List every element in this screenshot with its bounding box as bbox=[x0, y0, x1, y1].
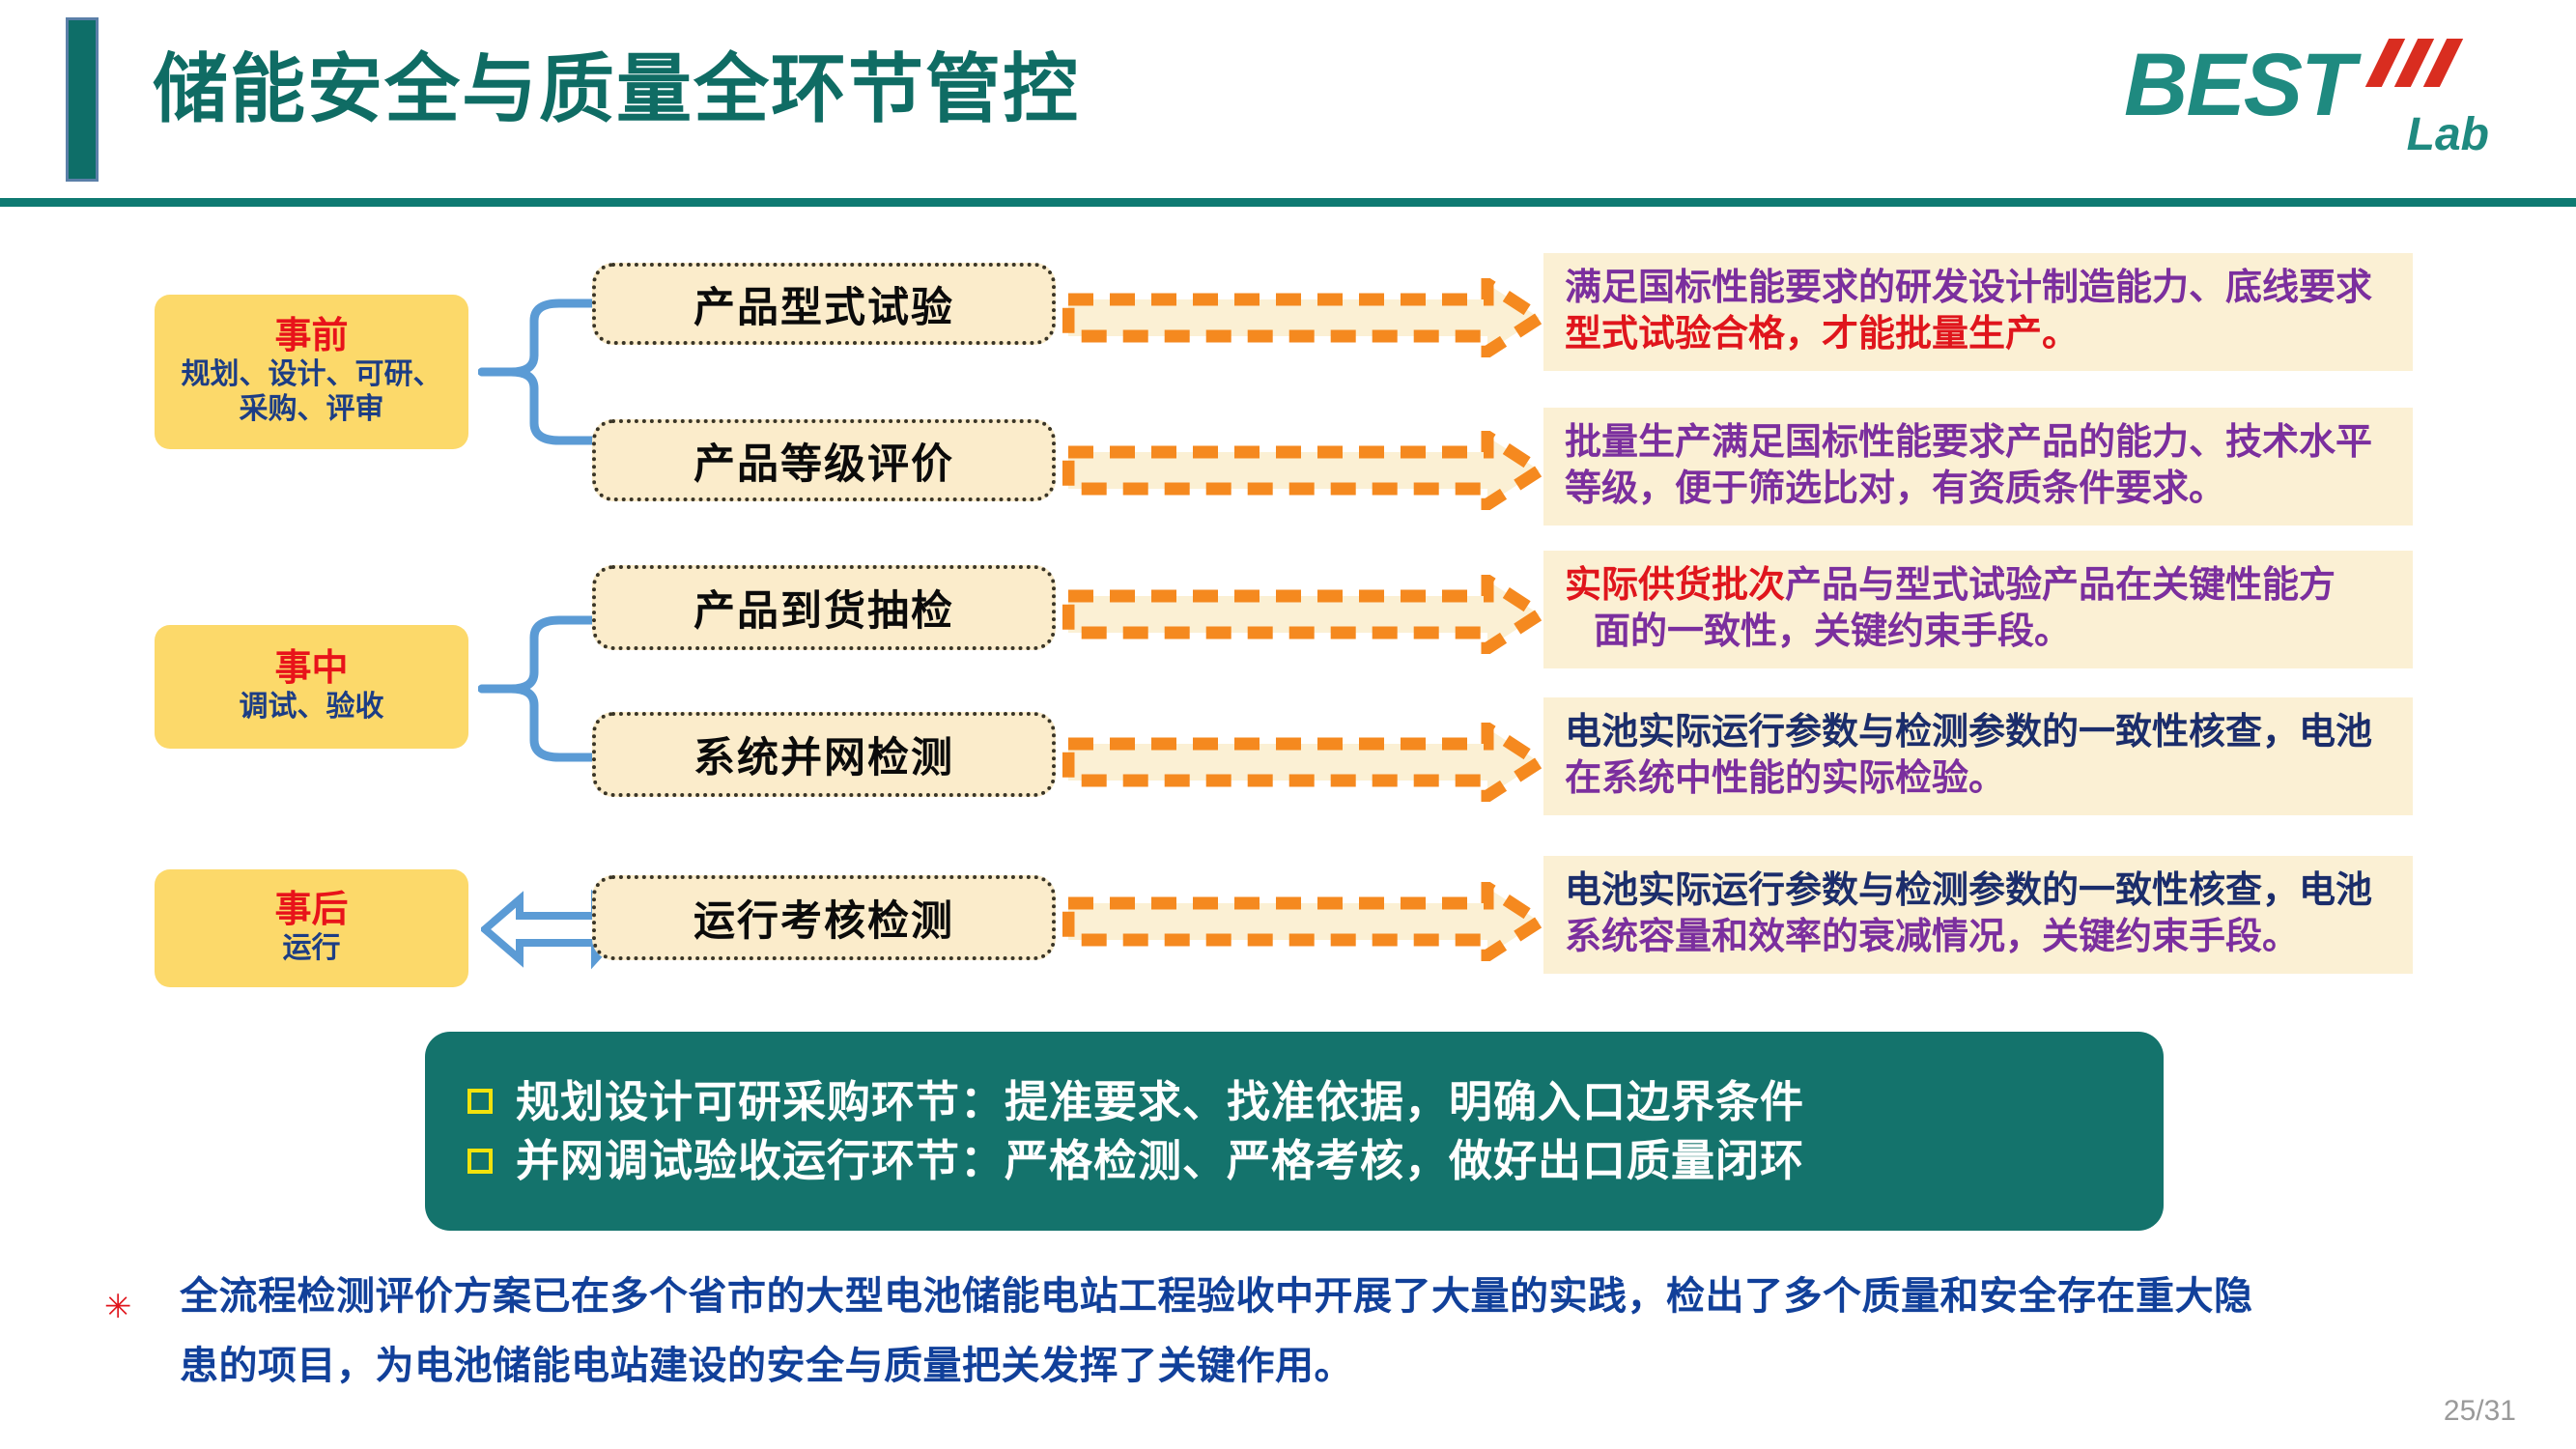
logo-sub-wordmark: Lab bbox=[2407, 112, 2489, 158]
phase-box-before[interactable]: 事前 规划、设计、可研、 采购、评审 bbox=[155, 295, 468, 449]
process-box-label: 系统并网检测 bbox=[694, 724, 954, 784]
description-line: 在系统中性能的实际检验。 bbox=[1565, 756, 2397, 803]
description-box-1: 满足国标性能要求的研发设计制造能力、底线要求 型式试验合格，才能批量生产。 bbox=[1543, 253, 2413, 371]
square-bullet-icon bbox=[467, 1149, 493, 1174]
description-line: 满足国标性能要求的研发设计制造能力、底线要求 bbox=[1565, 266, 2397, 312]
description-box-5: 电池实际运行参数与检测参数的一致性核查，电池 系统容量和效率的衰减情况，关键约束… bbox=[1543, 856, 2413, 974]
summary-text: 并网调试验收运行环节：严格检测、严格考核，做好出口质量闭环 bbox=[516, 1137, 1804, 1185]
summary-row: 规划设计可研采购环节：提准要求、找准依据，明确入口边界条件 bbox=[467, 1078, 2125, 1126]
brace-connector-during bbox=[478, 607, 604, 771]
logo-wordmark: BEST bbox=[2124, 41, 2353, 129]
process-box-3[interactable]: 产品到货抽检 bbox=[592, 565, 1056, 650]
description-box-3: 实际供货批次产品与型式试验产品在关键性能方 面的一致性，关键约束手段。 bbox=[1543, 551, 2413, 668]
asterisk-bullet-icon: ✳ bbox=[104, 1291, 132, 1323]
phase-main-label: 事前 bbox=[274, 316, 348, 357]
phase-sub-label-2: 采购、评审 bbox=[240, 392, 384, 428]
process-box-4[interactable]: 系统并网检测 bbox=[592, 712, 1056, 797]
footer-line-1: 全流程检测评价方案已在多个省市的大型电池储能电站工程验收中开展了大量的实践，检出… bbox=[180, 1277, 2253, 1316]
process-box-5[interactable]: 运行考核检测 bbox=[592, 875, 1056, 960]
description-line: 型式试验合格，才能批量生产。 bbox=[1565, 312, 2397, 358]
phase-box-during[interactable]: 事中 调试、验收 bbox=[155, 625, 468, 749]
description-emphasis: 实际供货批次 bbox=[1565, 565, 1785, 606]
process-box-label: 产品等级评价 bbox=[694, 431, 954, 491]
square-bullet-icon bbox=[467, 1089, 493, 1114]
phase-sub-label: 调试、验收 bbox=[240, 690, 384, 725]
description-box-2: 批量生产满足国标性能要求产品的能力、技术水平 等级，便于筛选比对，有资质条件要求… bbox=[1543, 408, 2413, 526]
description-line: 面的一致性，关键约束手段。 bbox=[1565, 610, 2397, 656]
page-title: 储能安全与质量全环节管控 bbox=[153, 29, 1080, 137]
phase-sub-label: 规划、设计、可研、 bbox=[182, 357, 442, 393]
phase-box-after[interactable]: 事后 运行 bbox=[155, 869, 468, 987]
description-line: 系统容量和效率的衰减情况，关键约束手段。 bbox=[1565, 915, 2397, 961]
header-divider bbox=[0, 198, 2576, 207]
phase-sub-label: 运行 bbox=[283, 931, 341, 967]
description-line: 实际供货批次产品与型式试验产品在关键性能方 bbox=[1565, 563, 2397, 610]
slide-canvas: 储能安全与质量全环节管控 BEST Lab 事前 规划、设计、可研、 采购、评审… bbox=[0, 0, 2576, 1449]
process-box-label: 产品到货抽检 bbox=[694, 578, 954, 638]
brace-connector-before bbox=[478, 290, 604, 454]
dashed-arrow-icon-2 bbox=[1062, 431, 1545, 510]
summary-text: 规划设计可研采购环节：提准要求、找准依据，明确入口边界条件 bbox=[516, 1078, 1804, 1126]
summary-row: 并网调试验收运行环节：严格检测、严格考核，做好出口质量闭环 bbox=[467, 1137, 2125, 1185]
dashed-arrow-icon-1 bbox=[1062, 278, 1545, 357]
title-accent-bar bbox=[66, 17, 99, 182]
description-line: 电池实际运行参数与检测参数的一致性核查，电池 bbox=[1565, 868, 2397, 915]
page-number: 25/31 bbox=[2444, 1395, 2516, 1428]
process-box-label: 运行考核检测 bbox=[694, 888, 954, 948]
dashed-arrow-icon-3 bbox=[1062, 575, 1545, 654]
process-box-2[interactable]: 产品等级评价 bbox=[592, 419, 1056, 501]
summary-panel: 规划设计可研采购环节：提准要求、找准依据，明确入口边界条件 并网调试验收运行环节… bbox=[425, 1032, 2164, 1231]
phase-main-label: 事中 bbox=[274, 648, 348, 690]
best-lab-logo: BEST Lab bbox=[2124, 35, 2491, 160]
dashed-arrow-icon-5 bbox=[1062, 882, 1545, 961]
phase-main-label: 事后 bbox=[274, 890, 348, 931]
process-box-label: 产品型式试验 bbox=[694, 274, 954, 334]
description-rest: 产品与型式试验产品在关键性能方 bbox=[1785, 565, 2335, 606]
description-box-4: 电池实际运行参数与检测参数的一致性核查，电池 在系统中性能的实际检验。 bbox=[1543, 697, 2413, 815]
description-line: 电池实际运行参数与检测参数的一致性核查，电池 bbox=[1565, 710, 2397, 756]
footer-line-2: 患的项目，为电池储能电站建设的安全与质量把关发挥了关键作用。 bbox=[180, 1347, 1353, 1385]
process-box-1[interactable]: 产品型式试验 bbox=[592, 263, 1056, 345]
description-line: 等级，便于筛选比对，有资质条件要求。 bbox=[1565, 467, 2397, 513]
description-line: 批量生产满足国标性能要求产品的能力、技术水平 bbox=[1565, 420, 2397, 467]
dashed-arrow-icon-4 bbox=[1062, 723, 1545, 802]
